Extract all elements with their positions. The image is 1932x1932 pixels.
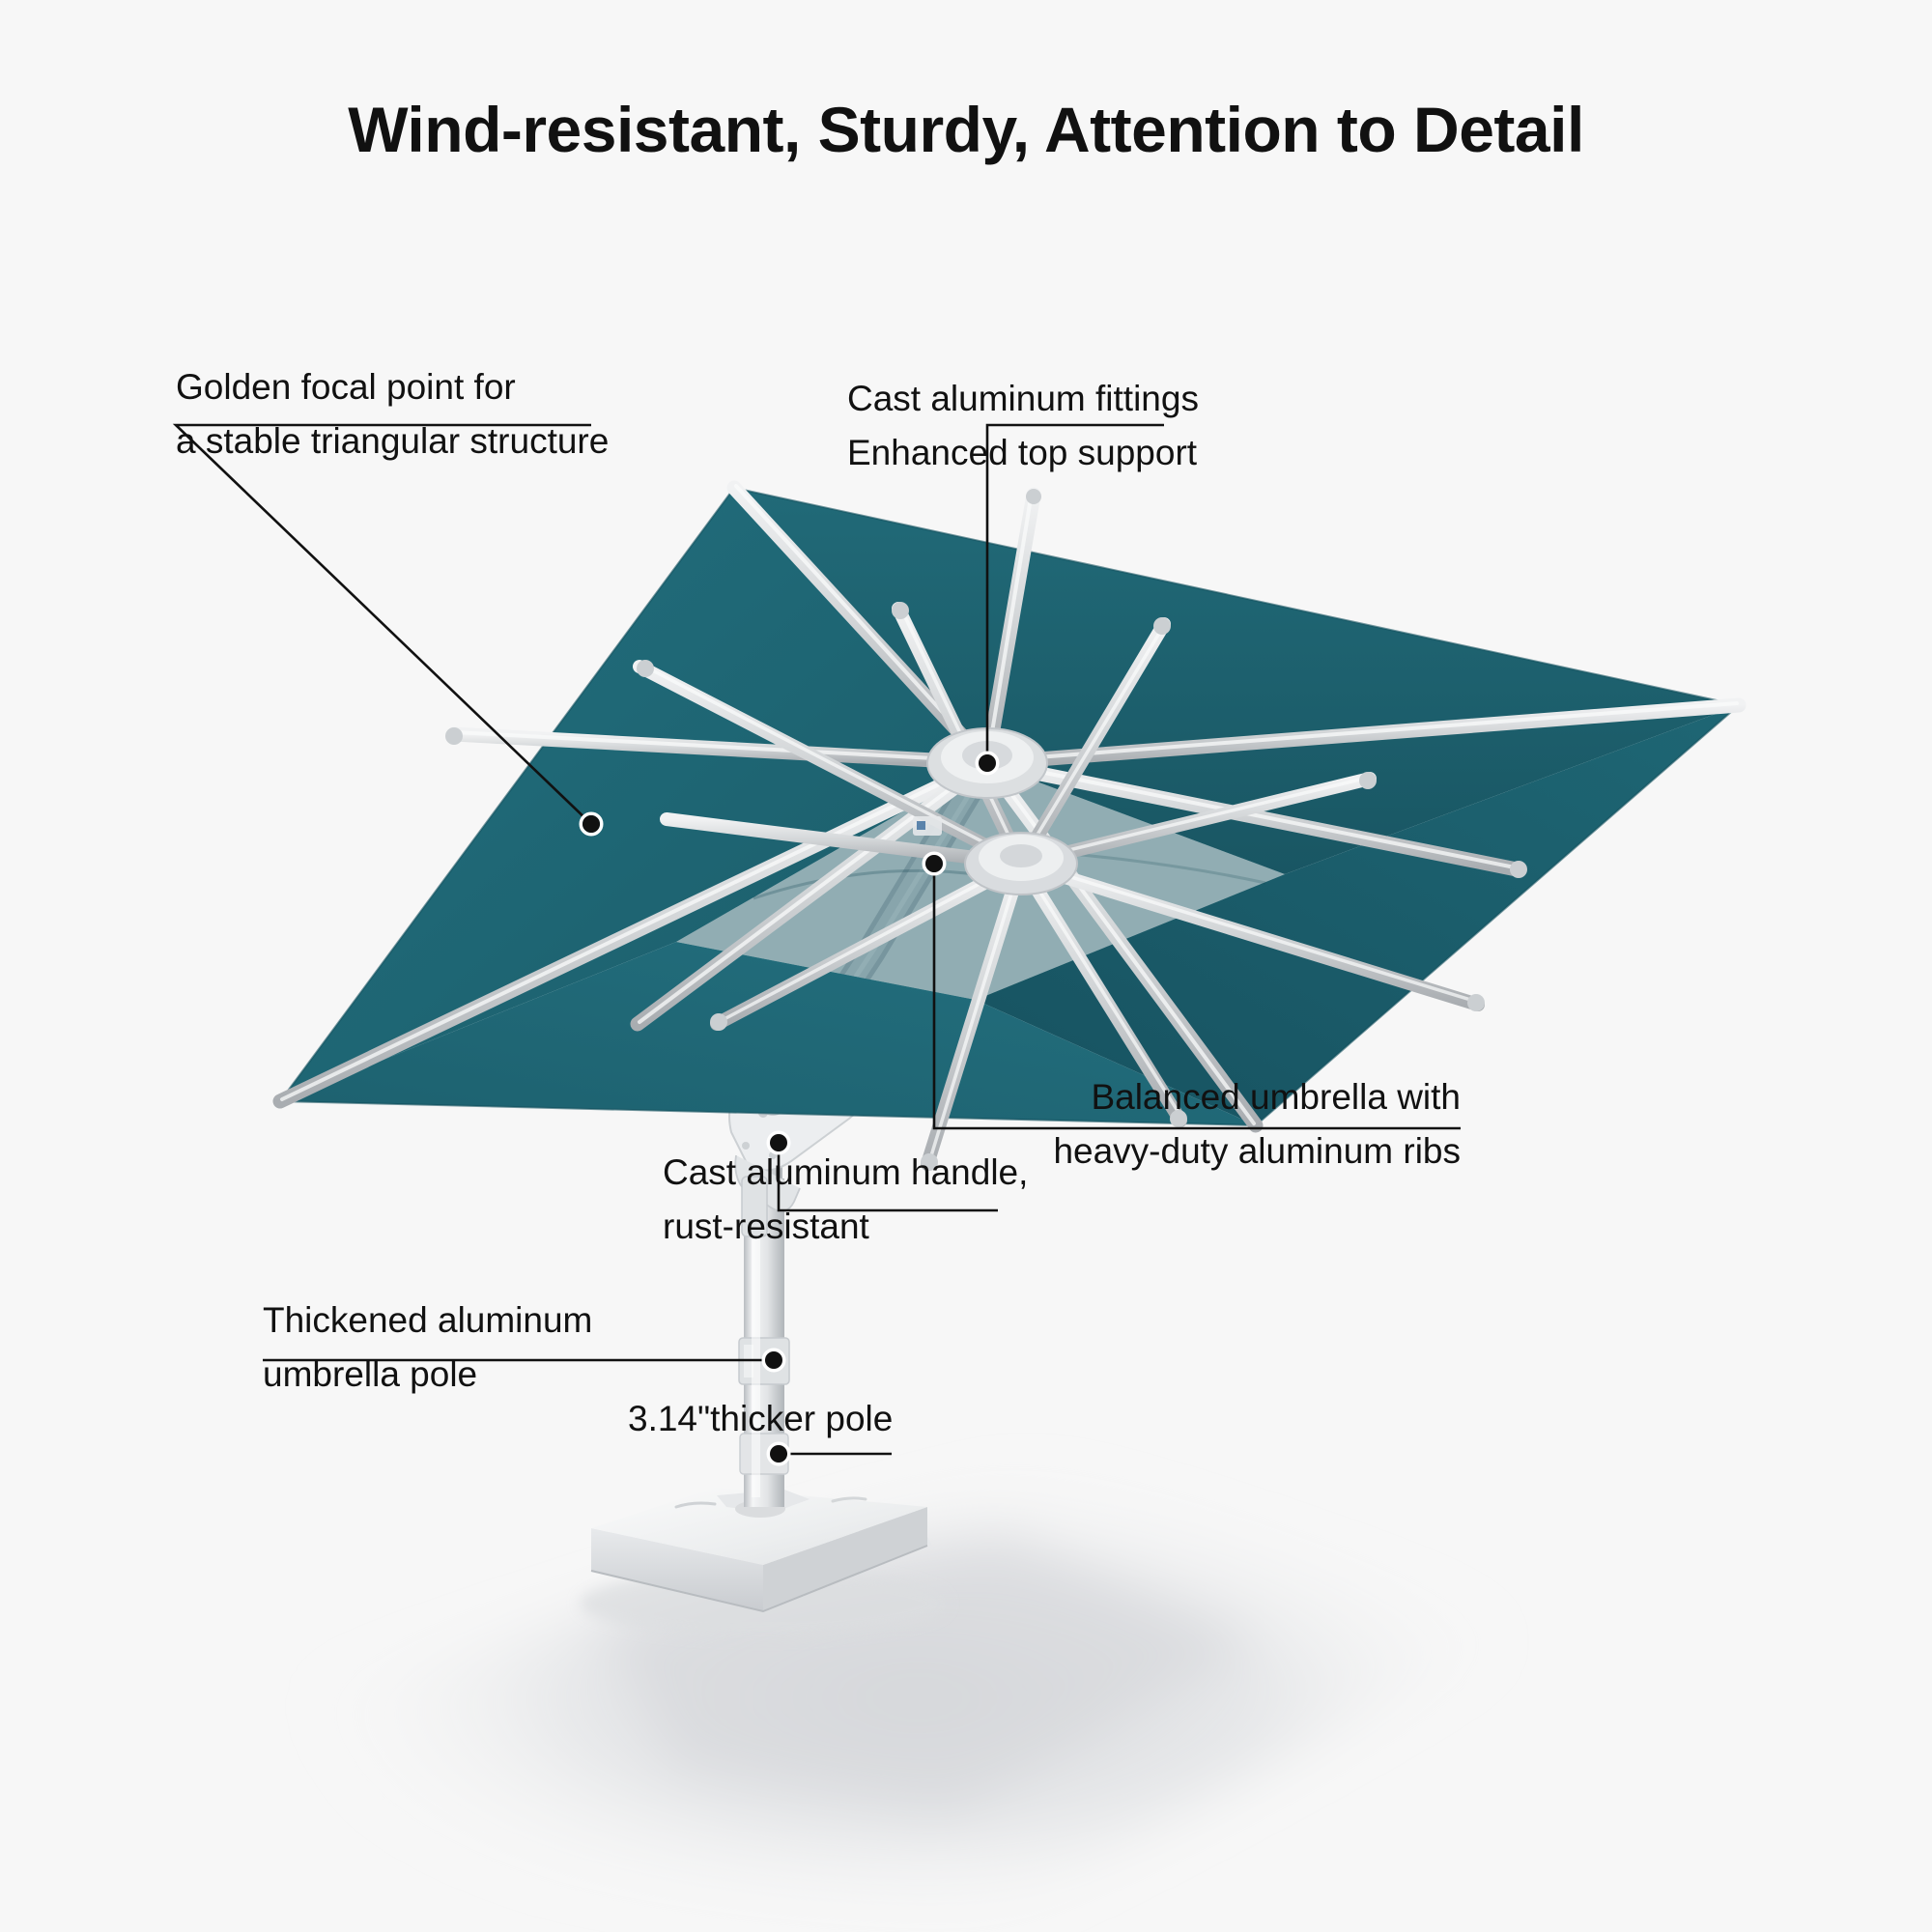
callout-thickened-aluminum-pole-line1: Thickened aluminum	[263, 1302, 592, 1339]
infographic-canvas: Wind-resistant, Sturdy, Attention to Det…	[0, 0, 1932, 1932]
callout-cast-aluminum-fittings: Cast aluminum fittingsEnhanced top suppo…	[847, 381, 1199, 470]
callout-cast-aluminum-handle-line2: rust-resistant	[663, 1208, 1028, 1245]
callout-cast-aluminum-fittings-line1: Cast aluminum fittings	[847, 381, 1199, 417]
callout-cast-aluminum-fittings-line2: Enhanced top support	[847, 435, 1199, 471]
callout-balanced-umbrella-ribs: Balanced umbrella withheavy-duty aluminu…	[1053, 1079, 1461, 1169]
callout-balanced-umbrella-ribs-line1: Balanced umbrella with	[1053, 1079, 1461, 1116]
callout-golden-focal-point-line1: Golden focal point for	[176, 369, 609, 406]
callout-thickened-aluminum-pole-line2: umbrella pole	[263, 1356, 592, 1393]
callout-golden-focal-point: Golden focal point fora stable triangula…	[176, 369, 609, 459]
callout-thicker-pole-measure-line1: 3.14"thicker pole	[628, 1401, 893, 1437]
callout-thickened-aluminum-pole: Thickened aluminumumbrella pole	[263, 1302, 592, 1392]
callout-thicker-pole-measure: 3.14"thicker pole	[628, 1401, 893, 1455]
callout-golden-focal-point-line2: a stable triangular structure	[176, 423, 609, 460]
callout-balanced-umbrella-ribs-line2: heavy-duty aluminum ribs	[1053, 1133, 1461, 1170]
callout-thicker-pole-measure-rule-gap	[628, 1437, 893, 1455]
callout-cast-aluminum-handle: Cast aluminum handle,rust-resistant	[663, 1154, 1028, 1244]
callout-cast-aluminum-handle-line1: Cast aluminum handle,	[663, 1154, 1028, 1191]
callout-labels: Golden focal point fora stable triangula…	[0, 0, 1932, 1932]
